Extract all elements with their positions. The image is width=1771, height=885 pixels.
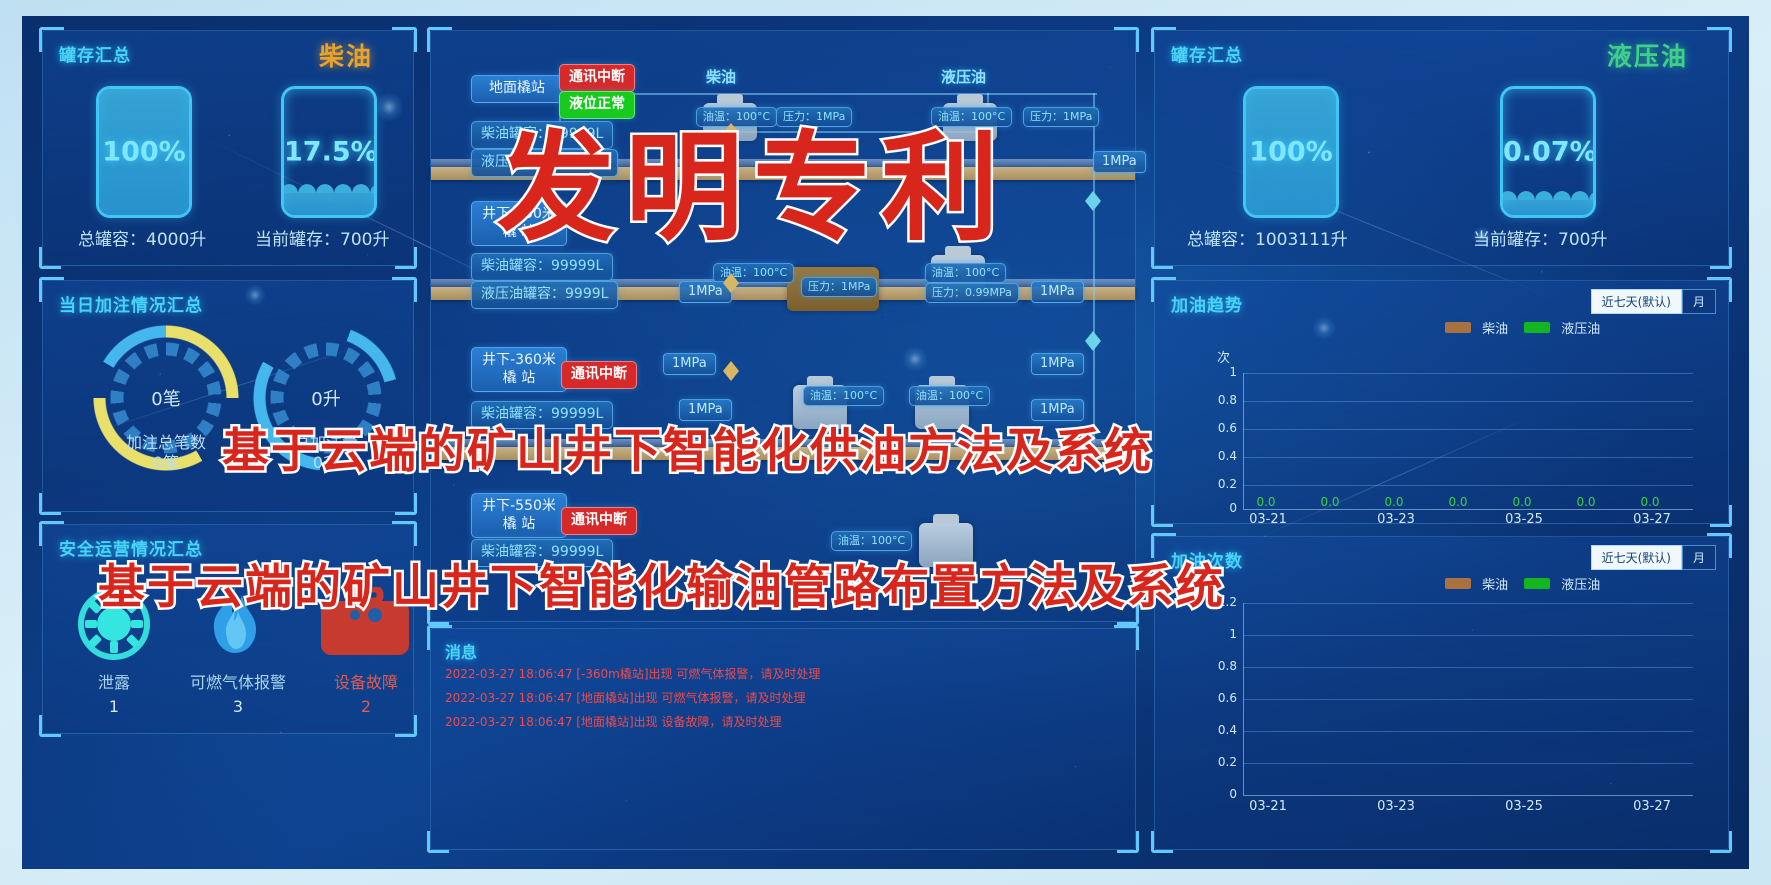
y-tick: 1	[1195, 365, 1237, 379]
gridline	[1243, 635, 1693, 636]
panel-title: 当日加注情况汇总	[59, 291, 203, 316]
data-label: 0.0	[1567, 495, 1605, 509]
panel-refuel-count-chart: 加油次数 近七天(默认) 月 柴油 液压油 1.2 1	[1154, 536, 1729, 850]
panel-title: 罐存汇总	[1171, 41, 1243, 66]
section-label-hydraulic: 液压油	[941, 66, 986, 87]
readout-temp: 油温：100°C	[909, 386, 990, 406]
panel-messages: 消息 2022-03-27 18:06:47 [-360m橇站]出现 可燃气体报…	[430, 628, 1136, 850]
tank-percent: 100%	[99, 137, 189, 168]
screenshot-root: 罐存汇总 柴油 100% 17.5% 总罐容：4000升 当前罐存：700升 当…	[0, 0, 1771, 885]
panel-tank-summary-diesel: 罐存汇总 柴油 100% 17.5% 总罐容：4000升 当前罐存：700升	[42, 30, 414, 266]
data-label: 0.0	[1503, 495, 1541, 509]
tank-gauge-current: 0.07%	[1500, 86, 1596, 218]
gridline	[1243, 667, 1693, 668]
tank-percent: 100%	[1246, 137, 1336, 168]
x-tick: 03-21	[1245, 512, 1291, 527]
pipe-segment	[1093, 93, 1095, 443]
x-tick: 03-23	[1373, 512, 1419, 527]
tank-gauge-current: 17.5%	[281, 86, 377, 218]
x-tick: 03-27	[1629, 512, 1675, 527]
current-stock-label: 当前罐存：700升	[1473, 225, 1607, 250]
safety-item-value: 3	[173, 697, 303, 716]
pressure-tag: 1MPa	[1093, 151, 1146, 173]
gridline	[1243, 699, 1693, 700]
pressure-tag: 1MPa	[1031, 281, 1084, 303]
data-label: 0.0	[1631, 495, 1669, 509]
readout-temp: 油温：100°C	[803, 386, 884, 406]
y-tick: 0.2	[1195, 477, 1237, 491]
safety-item-label: 可燃气体报警	[173, 669, 303, 693]
watermark-line-1: 基于云端的矿山井下智能化供油方法及系统	[222, 412, 1153, 481]
data-label: 0.0	[1247, 495, 1285, 509]
chart-plot-trend: 次 1 0.8 0.6 0.4 0.2 0 0.0 0.0 0.0 0.0 0	[1155, 281, 1730, 525]
total-capacity-label: 总罐容：4000升	[78, 225, 206, 250]
tank-gauge-total: 100%	[1243, 86, 1339, 218]
pressure-tag: 1MPa	[1031, 353, 1084, 375]
y-tick: 1	[1195, 627, 1237, 641]
x-tick: 03-27	[1629, 799, 1675, 814]
message-row: 2022-03-27 18:06:47 [-360m橇站]出现 可燃气体报警，请…	[445, 665, 820, 682]
safety-item-value: 1	[69, 697, 159, 716]
tank-wave	[281, 180, 377, 193]
x-tick: 03-21	[1245, 799, 1291, 814]
product-label: 柴油	[319, 37, 373, 73]
x-axis-line	[1243, 509, 1693, 510]
data-label: 0.0	[1375, 495, 1413, 509]
y-axis-label: 次	[1217, 347, 1230, 366]
y-tick: 0	[1195, 501, 1237, 515]
y-tick: 0.6	[1195, 421, 1237, 435]
tank-wave	[1500, 187, 1596, 200]
panel-title: 罐存汇总	[59, 41, 131, 66]
tank-percent: 0.07%	[1503, 137, 1593, 168]
safety-item-value: 2	[311, 697, 421, 716]
y-axis-line	[1243, 373, 1244, 509]
status-badge-comm: 通讯中断	[561, 361, 637, 389]
panel-tank-summary-hydraulic: 罐存汇总 液压油 100% 0.07% 总罐容：1003111升 当前罐存：70…	[1154, 30, 1729, 266]
y-tick: 0.6	[1195, 691, 1237, 705]
watermark-line-2: 基于云端的矿山井下智能化输油管路布置方法及系统	[98, 548, 1225, 617]
data-label: 0.0	[1439, 495, 1477, 509]
vessel-neck	[933, 514, 959, 524]
station-name-550m[interactable]: 井下-550米 橇 站	[471, 493, 567, 538]
gauge-caption-line1: 加注总笔数	[91, 433, 241, 453]
gridline	[1243, 763, 1693, 764]
y-tick: 0	[1195, 787, 1237, 801]
status-badge-comm: 通讯中断	[559, 64, 635, 92]
tank-percent: 17.5%	[284, 137, 374, 168]
chart-plot-count: 1.2 1 0.8 0.6 0.4 0.2 0 03-21 03-23 03-2…	[1155, 537, 1730, 851]
gridline	[1243, 373, 1693, 374]
safety-item-label: 设备故障	[311, 669, 421, 693]
product-label: 液压油	[1607, 37, 1688, 73]
y-tick: 0.4	[1195, 723, 1237, 737]
tank-capacity-hydraulic: 液压油罐容：9999L	[471, 281, 618, 309]
gridline	[1243, 603, 1693, 604]
x-tick: 03-25	[1501, 512, 1547, 527]
current-stock-label: 当前罐存：700升	[255, 225, 389, 250]
y-tick: 0.2	[1195, 755, 1237, 769]
messages-title: 消息	[445, 639, 477, 663]
safety-item-label: 泄露	[69, 669, 159, 693]
station-name-360m[interactable]: 井下-360米 橇 站	[471, 347, 567, 392]
readout-pressure: 压力：1MPa	[1023, 107, 1099, 127]
y-tick: 0.4	[1195, 449, 1237, 463]
x-axis-line	[1243, 795, 1693, 796]
tank-fill	[1503, 200, 1593, 215]
readout-pressure: 压力：0.99MPa	[925, 283, 1019, 303]
x-tick: 03-23	[1373, 799, 1419, 814]
status-badge-comm: 通讯中断	[561, 507, 637, 535]
y-tick: 0.8	[1195, 393, 1237, 407]
pressure-tag: 1MPa	[663, 353, 716, 375]
x-tick: 03-25	[1501, 799, 1547, 814]
gridline	[1243, 731, 1693, 732]
vessel-neck	[929, 376, 955, 386]
message-row: 2022-03-27 18:06:47 [地面橇站]出现 可燃气体报警，请及时处…	[445, 689, 805, 706]
message-row: 2022-03-27 18:06:47 [地面橇站]出现 设备故障，请及时处理	[445, 713, 781, 730]
gauge-caption: 加注总笔数 0笔	[91, 433, 241, 473]
gridline	[1243, 429, 1693, 430]
watermark-title: 发明专利	[497, 92, 1009, 263]
gauge-caption-line2: 0笔	[91, 453, 241, 473]
readout-pressure: 压力：1MPa	[801, 277, 877, 297]
vessel-neck	[807, 376, 833, 386]
tank-gauge-total: 100%	[96, 86, 192, 218]
gridline	[1243, 485, 1693, 486]
gridline	[1243, 457, 1693, 458]
tank-fill	[284, 193, 374, 215]
section-label-diesel: 柴油	[706, 66, 736, 87]
readout-temp: 油温：100°C	[925, 263, 1006, 283]
panel-refuel-trend-chart: 加油趋势 近七天(默认) 月 柴油 液压油 次 1	[1154, 280, 1729, 524]
gridline	[1243, 401, 1693, 402]
total-capacity-label: 总罐容：1003111升	[1187, 225, 1348, 250]
y-tick: 0.8	[1195, 659, 1237, 673]
y-axis-line	[1243, 603, 1244, 795]
data-label: 0.0	[1311, 495, 1349, 509]
